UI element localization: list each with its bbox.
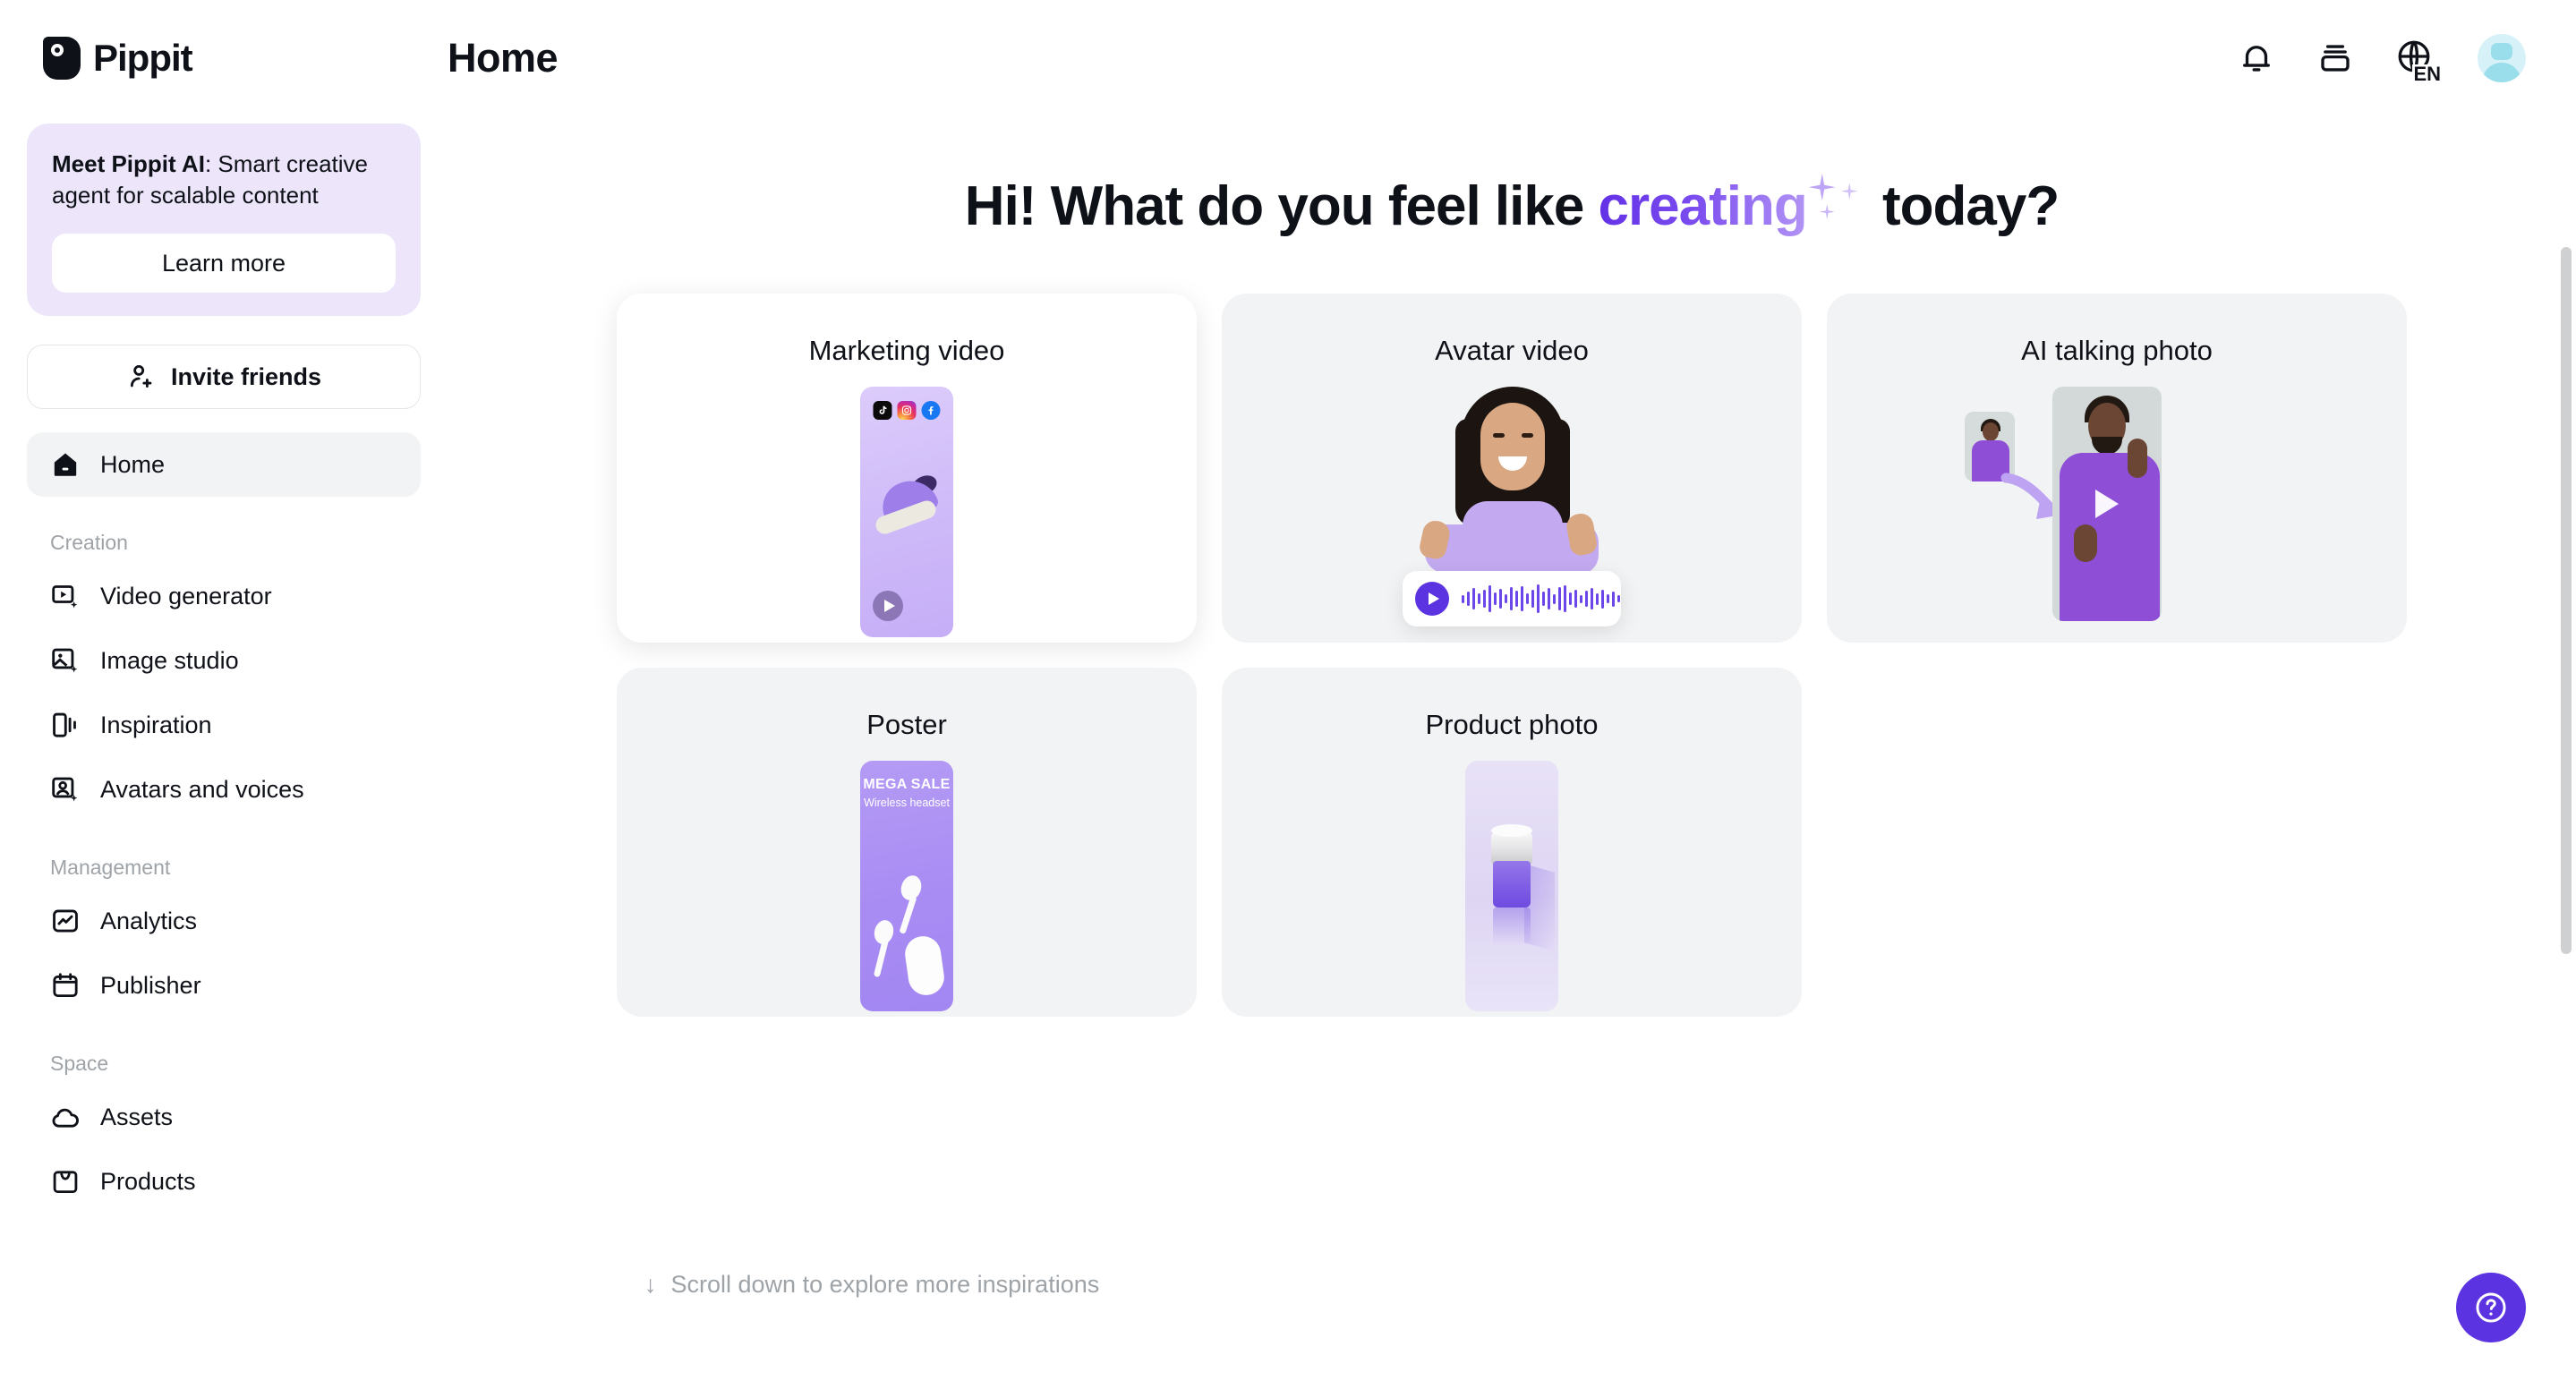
- inspiration-icon: [50, 710, 81, 740]
- play-icon[interactable]: [873, 591, 903, 621]
- question-circle-icon: [2472, 1289, 2510, 1326]
- sidebar-item-video-generator[interactable]: Video generator: [27, 564, 421, 628]
- card-marketing-video[interactable]: Marketing video: [617, 294, 1197, 643]
- help-button[interactable]: [2456, 1273, 2526, 1342]
- sneaker-image: [873, 473, 944, 542]
- page-title: Home: [448, 35, 558, 81]
- invite-friends-button[interactable]: Invite friends: [27, 345, 421, 409]
- sidebar-item-products[interactable]: Products: [27, 1149, 421, 1214]
- tiktok-icon: [874, 401, 892, 420]
- topbar: Home EN: [448, 0, 2576, 116]
- sidebar-item-analytics[interactable]: Analytics: [27, 889, 421, 953]
- sidebar-item-products-label: Products: [100, 1168, 196, 1196]
- sidebar-item-avatars-and-voices[interactable]: Avatars and voices: [27, 757, 421, 822]
- image-sparkle-icon: [50, 645, 81, 676]
- instagram-icon: [898, 401, 917, 420]
- user-plus-icon: [126, 362, 157, 392]
- card-poster-title: Poster: [617, 709, 1197, 741]
- scrollbar[interactable]: [2556, 233, 2576, 1389]
- hero-heading: Hi! What do you feel like creating today…: [448, 175, 2576, 238]
- sidebar-item-inspiration-label: Inspiration: [100, 712, 212, 739]
- avatar-sparkle-icon: [50, 774, 81, 805]
- sidebar-item-home[interactable]: Home: [27, 432, 421, 497]
- calendar-icon: [50, 970, 81, 1001]
- sidebar-item-avatars-and-voices-label: Avatars and voices: [100, 776, 304, 804]
- product-photo-art: [1222, 761, 1802, 1017]
- brand-logo[interactable]: Pippit: [27, 0, 421, 116]
- sidebar-group-management-label: Management: [27, 856, 421, 880]
- video-sparkle-icon: [50, 581, 81, 611]
- audio-player[interactable]: [1403, 571, 1621, 626]
- sidebar-item-video-generator-label: Video generator: [100, 583, 272, 610]
- sidebar-item-home-label: Home: [100, 451, 165, 479]
- earbud-stem: [899, 895, 917, 934]
- promo-title-bold: Meet Pippit AI: [52, 150, 205, 177]
- invite-friends-label: Invite friends: [171, 363, 321, 391]
- scrollbar-thumb[interactable]: [2561, 247, 2572, 954]
- cosmetic-jar-image: [1465, 761, 1558, 1011]
- poster-subhead: Wireless headset: [860, 797, 953, 809]
- facebook-icon: [922, 401, 941, 420]
- sparkle-icon: [1807, 209, 1868, 210]
- avatar[interactable]: [2478, 34, 2526, 82]
- home-icon: [50, 449, 81, 480]
- cloud-icon: [50, 1102, 81, 1132]
- waveform-icon: [1462, 584, 1620, 614]
- stack-icon[interactable]: [2316, 39, 2354, 77]
- sidebar-item-image-studio[interactable]: Image studio: [27, 628, 421, 693]
- scroll-hint-label: Scroll down to explore more inspirations: [671, 1271, 1100, 1299]
- card-marketing-video-title: Marketing video: [617, 335, 1197, 367]
- topbar-actions: EN: [2238, 0, 2526, 116]
- sidebar-item-analytics-label: Analytics: [100, 908, 197, 935]
- generated-video-thumbnail: [2052, 387, 2162, 621]
- card-avatar-video-title: Avatar video: [1222, 335, 1802, 367]
- play-icon[interactable]: [2095, 490, 2119, 518]
- language-switcher[interactable]: EN: [2395, 38, 2436, 79]
- main-content: Hi! What do you feel like creating today…: [448, 116, 2576, 1389]
- sidebar-item-inspiration[interactable]: Inspiration: [27, 693, 421, 757]
- pippit-logo-icon: [43, 37, 81, 80]
- sidebar: Pippit Meet Pippit AI: Smart creative ag…: [0, 0, 448, 1389]
- hero-highlight: creating: [1599, 175, 1807, 237]
- card-product-photo[interactable]: Product photo: [1222, 668, 1802, 1017]
- hero-before: Hi! What do you feel like: [965, 175, 1599, 237]
- promo-card: Meet Pippit AI: Smart creative agent for…: [27, 124, 421, 316]
- down-arrow-icon: ↓: [644, 1271, 657, 1299]
- earbuds-case: [903, 934, 947, 998]
- bell-icon[interactable]: [2238, 39, 2275, 77]
- sidebar-item-image-studio-label: Image studio: [100, 647, 239, 675]
- creation-card-grid: Marketing video: [617, 294, 2407, 1017]
- card-ai-talking-photo-title: AI talking photo: [1827, 335, 2407, 367]
- sidebar-item-assets[interactable]: Assets: [27, 1085, 421, 1149]
- avatar-video-art: [1222, 387, 1802, 643]
- sidebar-group-creation-label: Creation: [27, 531, 421, 555]
- poster-art: MEGA SALE Wireless headset: [617, 761, 1197, 1017]
- sidebar-item-publisher[interactable]: Publisher: [27, 953, 421, 1018]
- card-avatar-video[interactable]: Avatar video: [1222, 294, 1802, 643]
- promo-text: Meet Pippit AI: Smart creative agent for…: [52, 149, 396, 210]
- earbud-stem: [874, 938, 889, 977]
- card-poster[interactable]: Poster MEGA SALE Wireless headset: [617, 668, 1197, 1017]
- scroll-hint[interactable]: ↓ Scroll down to explore more inspiratio…: [644, 1271, 1099, 1299]
- poster-headline: MEGA SALE: [860, 777, 953, 793]
- language-label: EN: [2412, 64, 2442, 84]
- sidebar-item-assets-label: Assets: [100, 1104, 173, 1131]
- marketing-video-art: [617, 387, 1197, 643]
- sidebar-item-publisher-label: Publisher: [100, 972, 201, 1000]
- learn-more-button[interactable]: Learn more: [52, 234, 396, 293]
- analytics-icon: [50, 906, 81, 936]
- social-icons: [874, 401, 941, 420]
- card-product-photo-title: Product photo: [1222, 709, 1802, 741]
- play-icon[interactable]: [1415, 582, 1449, 616]
- card-ai-talking-photo[interactable]: AI talking photo: [1827, 294, 2407, 643]
- brand-name: Pippit: [93, 37, 192, 80]
- ai-talking-photo-art: [1827, 387, 2407, 643]
- sidebar-group-space-label: Space: [27, 1052, 421, 1076]
- bag-icon: [50, 1166, 81, 1197]
- hero-after: today?: [1868, 175, 2059, 237]
